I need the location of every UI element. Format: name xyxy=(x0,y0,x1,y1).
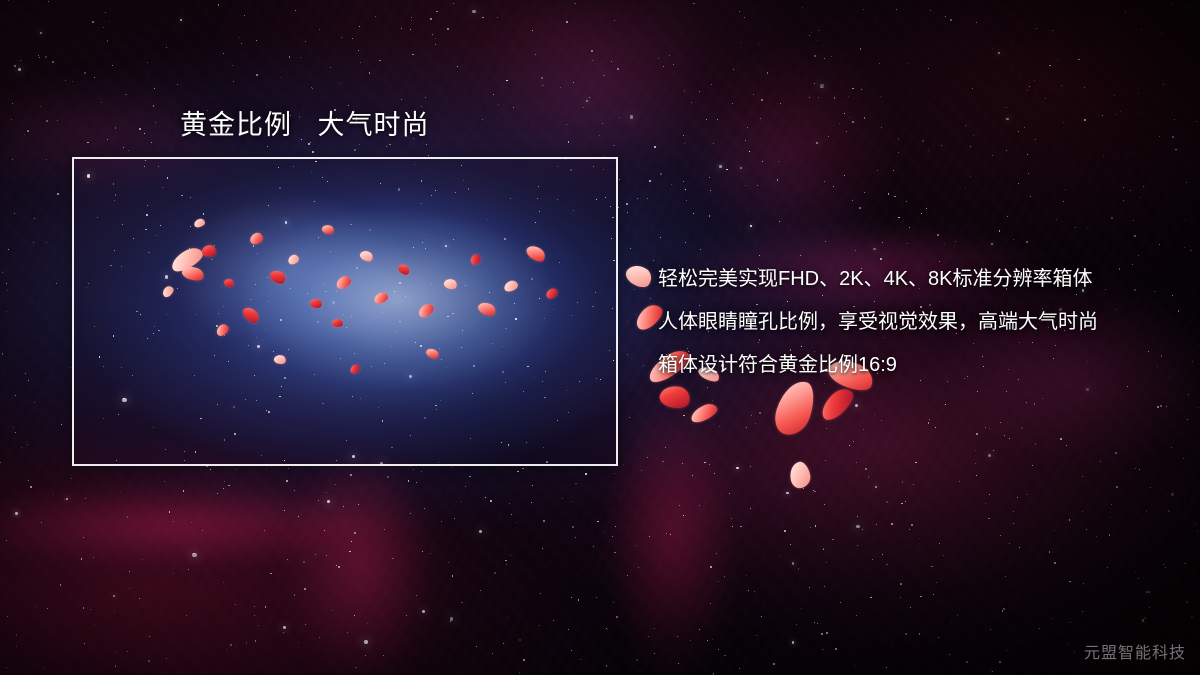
feature-description: 轻松完美实现FHD、2K、4K、8K标准分辨率箱体 人体眼睛瞳孔比例，享受视觉效… xyxy=(658,258,1168,387)
petal xyxy=(287,253,300,265)
petal xyxy=(688,401,719,425)
petal xyxy=(416,302,435,320)
petal xyxy=(249,232,264,245)
page-title: 黄金比例 大气时尚 xyxy=(180,103,430,142)
petal xyxy=(397,262,412,277)
petal xyxy=(331,318,343,327)
petal xyxy=(425,346,441,361)
petal xyxy=(321,223,335,236)
petal xyxy=(214,322,230,338)
petal xyxy=(273,354,287,366)
petal xyxy=(788,460,813,490)
petal xyxy=(373,291,389,305)
petal xyxy=(349,363,362,375)
petal xyxy=(241,304,262,325)
feature-line-3: 箱体设计符合黄金比例16:9 xyxy=(658,344,1168,387)
petal xyxy=(524,242,548,265)
watermark-brand: 元盟智能科技 xyxy=(1084,639,1186,663)
petal xyxy=(476,299,498,318)
petal xyxy=(309,298,323,310)
preview-frame-panel[interactable] xyxy=(72,157,618,466)
petal xyxy=(161,284,176,299)
petal xyxy=(468,252,482,266)
feature-line-2: 人体眼睛瞳孔比例，享受视觉效果，高端大气时尚 xyxy=(658,301,1168,344)
petal xyxy=(193,218,206,229)
petal xyxy=(623,260,656,291)
preview-frame-content xyxy=(74,159,616,464)
feature-line-1: 轻松完美实现FHD、2K、4K、8K标准分辨率箱体 xyxy=(658,258,1168,301)
petal xyxy=(443,277,459,291)
petal-cluster-inside xyxy=(74,159,616,464)
petal xyxy=(334,274,352,290)
petal xyxy=(223,277,235,288)
petal xyxy=(268,267,288,286)
petal xyxy=(503,279,519,292)
slide-canvas: 黄金比例 大气时尚 轻松完美实现FHD、2K、4K、8K标准分辨率箱体 人体眼睛… xyxy=(0,0,1200,675)
petal xyxy=(358,248,374,263)
petal xyxy=(201,244,217,258)
petal xyxy=(816,384,858,424)
petal xyxy=(545,287,559,300)
